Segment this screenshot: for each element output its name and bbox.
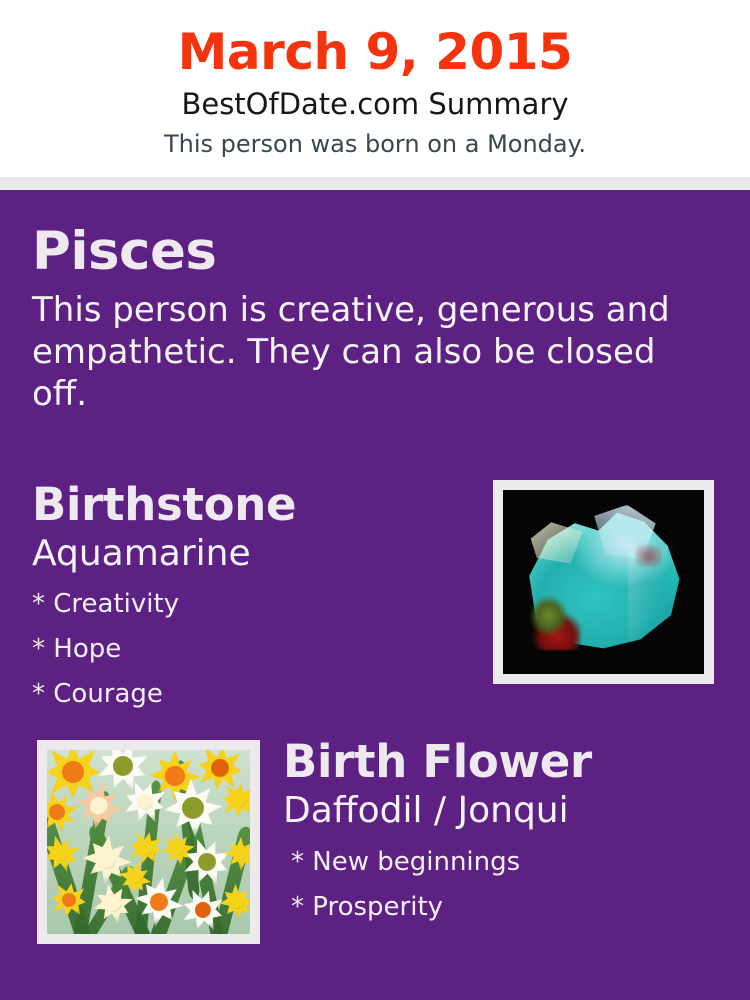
birthstone-image-frame: [493, 480, 714, 684]
birthstone-photo: [503, 490, 704, 674]
list-item: * Hope: [32, 627, 472, 672]
page-header: March 9, 2015 BestOfDate.com Summary Thi…: [0, 0, 750, 177]
list-item: * New beginnings: [291, 840, 733, 885]
list-item: * Courage: [32, 672, 472, 717]
gem-inclusion-dot: [636, 545, 662, 567]
birth-flower-photo: [47, 750, 250, 934]
page-title-date: March 9, 2015: [0, 22, 750, 82]
site-summary-subtitle: BestOfDate.com Summary: [0, 86, 750, 122]
born-weekday-text: This person was born on a Monday.: [0, 129, 750, 159]
birthstone-heading: Birthstone: [32, 478, 472, 532]
flower-center: [113, 756, 133, 776]
summary-page: March 9, 2015 BestOfDate.com Summary Thi…: [0, 0, 750, 1000]
header-divider: [0, 177, 750, 190]
flower-center: [182, 797, 204, 819]
list-item: * Creativity: [32, 582, 472, 627]
birthstone-trait-list: * Creativity * Hope * Courage: [32, 582, 472, 717]
list-item: * Prosperity: [291, 885, 733, 930]
flower-center: [230, 895, 243, 908]
aquamarine-crystal-icon: [503, 490, 704, 674]
birth-flower-trait-list: * New beginnings * Prosperity: [283, 840, 733, 930]
daffodil-field-icon: [47, 750, 250, 934]
flower-center: [105, 896, 120, 911]
birthstone-name: Aquamarine: [32, 532, 472, 576]
zodiac-description: This person is creative, generous and em…: [32, 289, 714, 415]
birthstone-section: Birthstone Aquamarine * Creativity * Hop…: [32, 478, 472, 717]
flower-center: [139, 841, 152, 854]
birth-flower-image-frame: [37, 740, 260, 944]
birth-flower-name: Daffodil / Jonqui: [283, 789, 733, 833]
birth-flower-section: Birth Flower Daffodil / Jonqui * New beg…: [283, 735, 733, 930]
flower-center: [90, 797, 108, 815]
flower-center: [165, 766, 184, 785]
birth-flower-heading: Birth Flower: [283, 735, 733, 789]
zodiac-sign-name: Pisces: [32, 222, 216, 282]
flower-center: [49, 804, 65, 820]
gem-inclusion-matrix: [529, 595, 581, 650]
